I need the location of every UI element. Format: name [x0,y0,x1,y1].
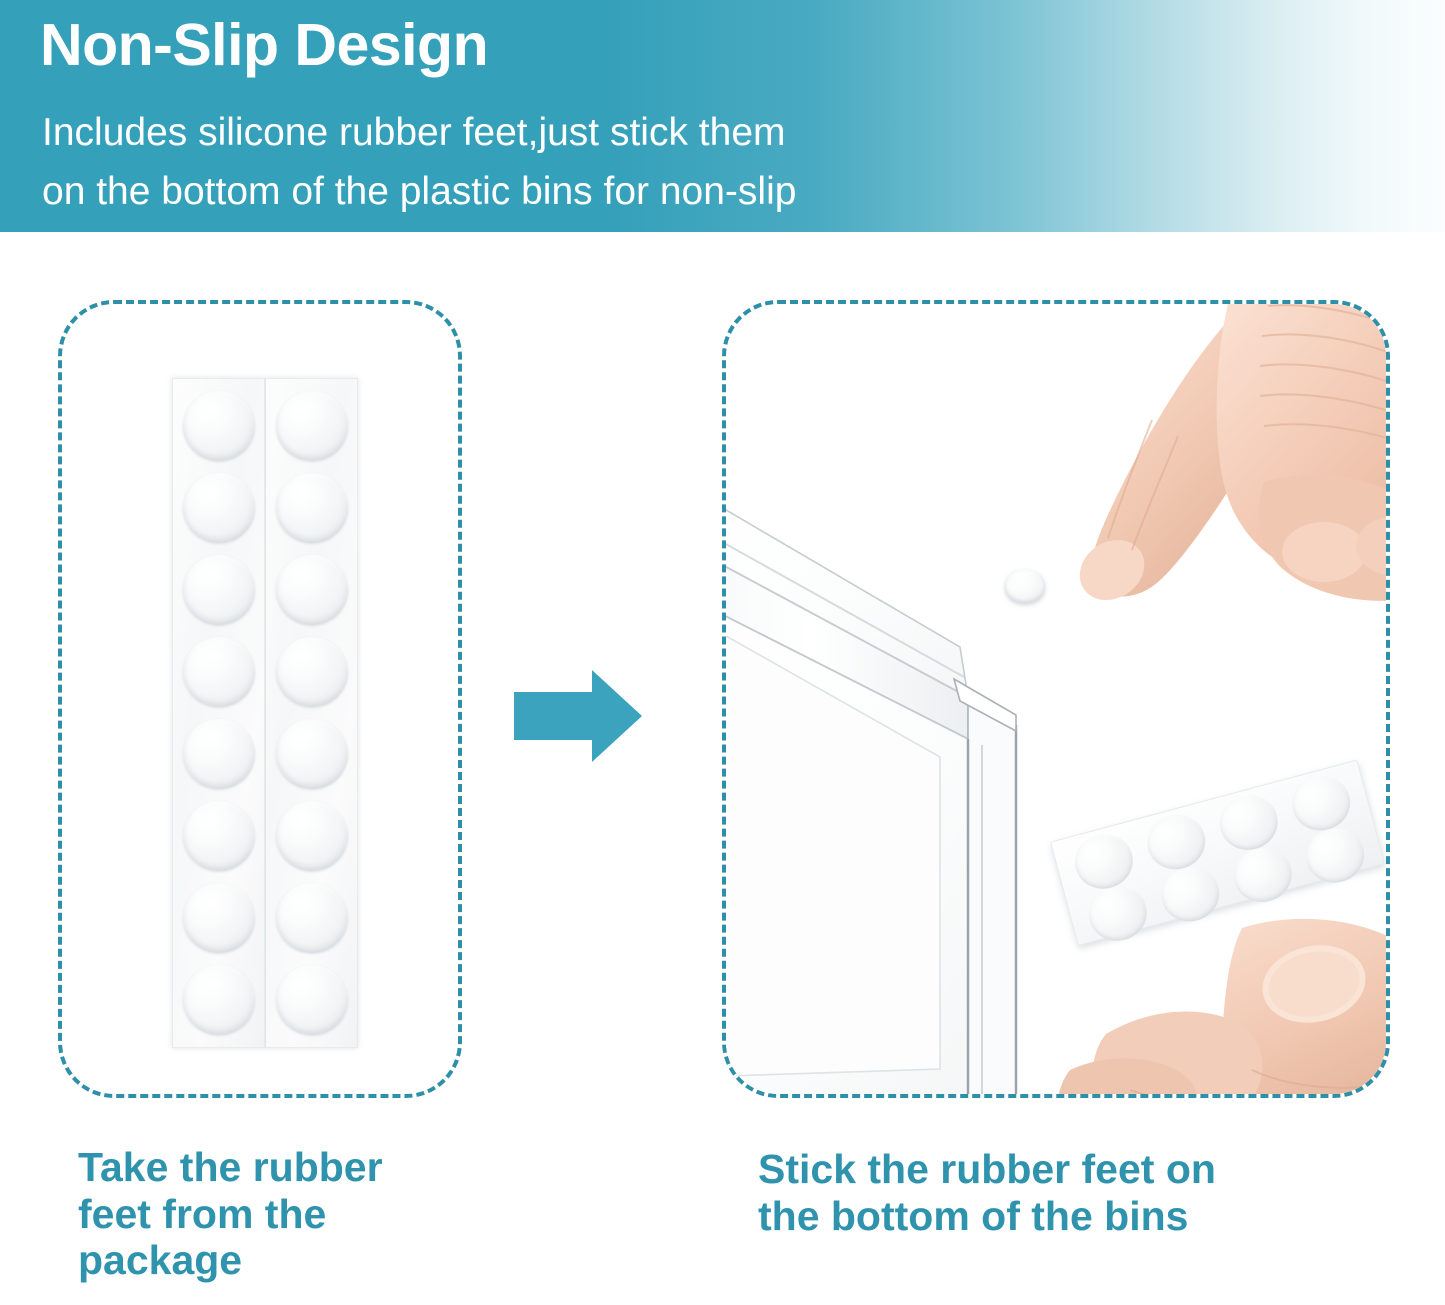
header-subtitle-line-2: on the bottom of the plastic bins for no… [42,172,796,211]
rubber-foot-dome [183,637,255,707]
rubber-foot-dome [183,555,255,625]
rubber-feet-strip-right [265,378,358,1048]
step-1-caption-line-2: feet from the [78,1191,498,1238]
rubber-foot-dome [183,473,255,543]
rubber-foot-dome [183,801,255,871]
step-1-caption-line-1: Take the rubber [78,1144,498,1191]
step-2-caption-line-2: the bottom of the bins [758,1193,1398,1240]
rubber-foot-dome [1213,789,1283,856]
rubber-foot-dome [276,555,348,625]
header-subtitle-line-1: Includes silicone rubber feet,just stick… [42,113,786,152]
header-banner: Non-Slip Design Includes silicone rubber… [0,0,1445,232]
rubber-foot-dome [183,719,255,789]
page-title: Non-Slip Design [40,16,488,75]
rubber-foot-dome [1286,770,1356,837]
step-2-caption: Stick the rubber feet on the bottom of t… [758,1146,1398,1239]
rubber-foot-dome [1068,828,1138,895]
rubber-foot-dome [1141,809,1211,876]
rubber-foot-dome [276,637,348,707]
rubber-foot-dome [183,391,255,461]
rubber-foot-dome [276,391,348,461]
step-1-caption: Take the rubber feet from the package [78,1144,498,1284]
rubber-feet-sheet [172,378,358,1048]
hand-pressing-foot [972,304,1386,690]
rubber-foot-dome [276,801,348,871]
step-2-scene [726,304,1386,1094]
step-2-scene-clip [726,304,1386,1094]
rubber-foot-dome [183,883,255,953]
rubber-foot-being-applied [1005,569,1045,603]
rubber-foot-dome [276,965,348,1035]
step-2-caption-line-1: Stick the rubber feet on [758,1146,1398,1193]
rubber-feet-strip-left [172,378,265,1048]
rubber-foot-dome [276,719,348,789]
step-2-panel [722,300,1390,1098]
rubber-foot-dome [276,883,348,953]
right-arrow-icon [514,670,642,762]
rubber-foot-dome [183,965,255,1035]
rubber-foot-dome [276,473,348,543]
step-1-caption-line-3: package [78,1237,498,1284]
